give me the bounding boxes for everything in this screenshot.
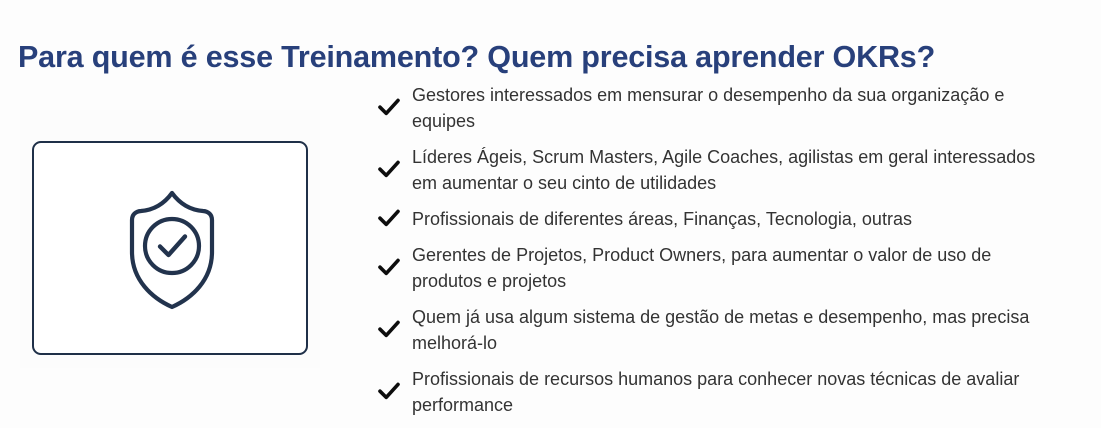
list-item: Profissionais de diferentes áreas, Finan… (378, 206, 1058, 232)
list-item: Gestores interessados em mensurar o dese… (378, 82, 1058, 134)
list-item: Gerentes de Projetos, Product Owners, pa… (378, 242, 1058, 294)
list-item: Líderes Ágeis, Scrum Masters, Agile Coac… (378, 144, 1058, 196)
check-icon (378, 144, 412, 178)
check-icon (378, 242, 412, 276)
check-icon (378, 304, 412, 338)
check-icon (378, 82, 412, 116)
list-item-label: Gestores interessados em mensurar o dese… (412, 82, 1044, 134)
illustration-card (32, 141, 308, 355)
shield-check-icon (116, 188, 228, 312)
slide-root: Para quem é esse Treinamento? Quem preci… (0, 0, 1101, 422)
check-icon (378, 206, 412, 227)
list-item-label: Profissionais de recursos humanos para c… (412, 366, 1044, 418)
check-icon (378, 366, 412, 400)
page-title: Para quem é esse Treinamento? Quem preci… (18, 38, 1062, 76)
list-item-label: Líderes Ágeis, Scrum Masters, Agile Coac… (412, 144, 1044, 196)
list-item-label: Profissionais de diferentes áreas, Finan… (412, 206, 1044, 232)
list-item: Profissionais de recursos humanos para c… (378, 366, 1058, 418)
list-item-label: Gerentes de Projetos, Product Owners, pa… (412, 242, 1044, 294)
list-item-label: Quem já usa algum sistema de gestão de m… (412, 304, 1044, 356)
shield-check-illustration (34, 143, 310, 357)
list-item: Quem já usa algum sistema de gestão de m… (378, 304, 1058, 356)
audience-list: Gestores interessados em mensurar o dese… (378, 82, 1058, 428)
